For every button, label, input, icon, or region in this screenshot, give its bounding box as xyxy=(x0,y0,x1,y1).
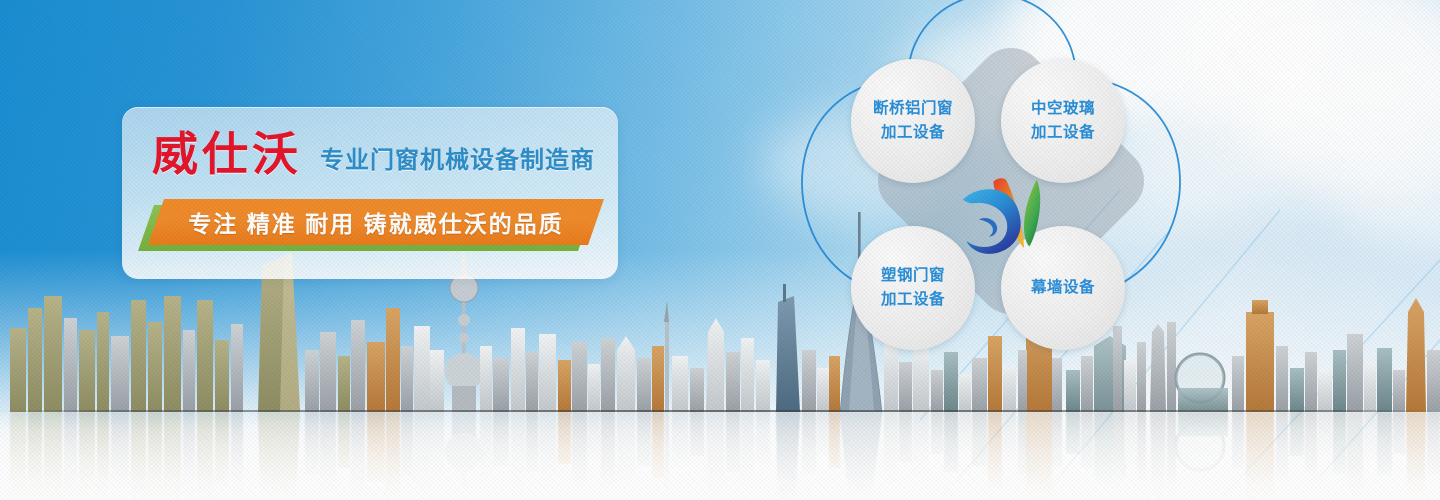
slogan-ribbon: 专注 精准 耐用 铸就威仕沃的品质 xyxy=(138,199,608,255)
node-label-line1: 塑钢门窗 xyxy=(881,264,945,288)
skyline-reflection xyxy=(0,412,1440,500)
node-label-line1: 中空玻璃 xyxy=(1031,97,1095,121)
hero-banner: 威仕沃 专业门窗机械设备制造商 专注 精准 耐用 铸就威仕沃的品质 断桥铝门窗 … xyxy=(0,0,1440,500)
node-label-line2: 加工设备 xyxy=(881,288,945,312)
node-label-line2: 加工设备 xyxy=(1031,121,1095,145)
weishiwo-swoosh-logo-icon xyxy=(952,160,1060,268)
node-label-line2: 加工设备 xyxy=(881,121,945,145)
slogan-text: 专注 精准 耐用 铸就威仕沃的品质 xyxy=(188,205,563,239)
brand-row: 威仕沃 专业门窗机械设备制造商 xyxy=(152,131,595,177)
ground-line xyxy=(0,410,1440,412)
ribbon-orange: 专注 精准 耐用 铸就威仕沃的品质 xyxy=(148,199,604,245)
brand-name: 威仕沃 xyxy=(152,131,302,177)
brand-tagline: 专业门窗机械设备制造商 xyxy=(320,149,595,177)
product-category-diagram: 断桥铝门窗 加工设备 中空玻璃 加工设备 塑钢门窗 加工设备 幕墙设备 xyxy=(780,0,1200,380)
headline-panel: 威仕沃 专业门窗机械设备制造商 专注 精准 耐用 铸就威仕沃的品质 xyxy=(122,107,618,279)
node-label-line1: 幕墙设备 xyxy=(1031,276,1095,300)
node-label-line1: 断桥铝门窗 xyxy=(873,97,953,121)
